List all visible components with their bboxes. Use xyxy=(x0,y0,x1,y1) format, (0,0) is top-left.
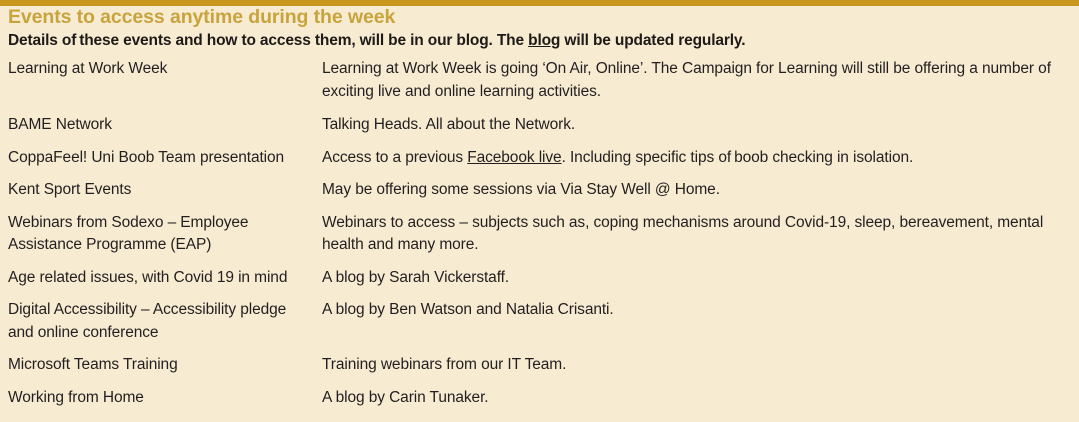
event-detail: May be offering some sessions via Via St… xyxy=(322,179,1079,202)
event-detail: A blog by Ben Watson and Natalia Crisant… xyxy=(322,299,1079,322)
event-detail: A blog by Carin Tunaker. xyxy=(322,387,1079,410)
subheading-text-before: Details of these events and how to acces… xyxy=(8,32,528,49)
event-name: Learning at Work Week xyxy=(0,58,322,81)
table-row: Kent Sport Events May be offering some s… xyxy=(0,179,1079,202)
table-row: Microsoft Teams Training Training webina… xyxy=(0,354,1079,377)
table-row: Age related issues, with Covid 19 in min… xyxy=(0,267,1079,290)
event-detail-text-after: . Including specific tips of boob checki… xyxy=(562,149,914,166)
table-row: Working from Home A blog by Carin Tunake… xyxy=(0,387,1079,410)
table-row: Digital Accessibility – Accessibility pl… xyxy=(0,299,1079,344)
event-name: Digital Accessibility – Accessibility pl… xyxy=(0,299,322,344)
event-name: Working from Home xyxy=(0,387,322,410)
row-spacer xyxy=(0,137,1079,147)
page-title: Events to access anytime during the week xyxy=(8,6,395,28)
events-panel: Events to access anytime during the week… xyxy=(0,0,1079,422)
event-name: Microsoft Teams Training xyxy=(0,354,322,377)
row-spacer xyxy=(0,257,1079,267)
row-spacer xyxy=(0,169,1079,179)
event-detail: Learning at Work Week is going ‘On Air, … xyxy=(322,58,1079,103)
row-spacer xyxy=(0,289,1079,299)
table-row: Webinars from Sodexo – Employee Assistan… xyxy=(0,212,1079,257)
row-spacer xyxy=(0,103,1079,114)
row-spacer xyxy=(0,377,1079,387)
event-name: Kent Sport Events xyxy=(0,179,322,202)
facebook-live-link[interactable]: Facebook live xyxy=(467,149,561,166)
table-row: BAME Network Talking Heads. All about th… xyxy=(0,114,1079,137)
table-row: Learning at Work Week Learning at Work W… xyxy=(0,58,1079,103)
event-detail: Talking Heads. All about the Network. xyxy=(322,114,1079,137)
event-detail: Training webinars from our IT Team. xyxy=(322,354,1079,377)
subheading-text-after: will be updated regularly. xyxy=(560,32,745,49)
row-spacer xyxy=(0,344,1079,354)
event-detail-text-before: Access to a previous xyxy=(322,149,467,166)
event-name: Webinars from Sodexo – Employee Assistan… xyxy=(0,212,322,257)
row-spacer xyxy=(0,202,1079,212)
event-name: BAME Network xyxy=(0,114,322,137)
events-table: Learning at Work Week Learning at Work W… xyxy=(0,58,1079,409)
table-row: CoppaFeel! Uni Boob Team presentation Ac… xyxy=(0,147,1079,170)
event-detail: Webinars to access – subjects such as, c… xyxy=(322,212,1079,257)
event-detail: Access to a previous Facebook live. Incl… xyxy=(322,147,1079,170)
blog-link[interactable]: blog xyxy=(528,32,560,49)
event-name: CoppaFeel! Uni Boob Team presentation xyxy=(0,147,322,170)
event-name: Age related issues, with Covid 19 in min… xyxy=(0,267,322,290)
subheading: Details of these events and how to acces… xyxy=(8,31,745,50)
event-detail: A blog by Sarah Vickerstaff. xyxy=(322,267,1079,290)
